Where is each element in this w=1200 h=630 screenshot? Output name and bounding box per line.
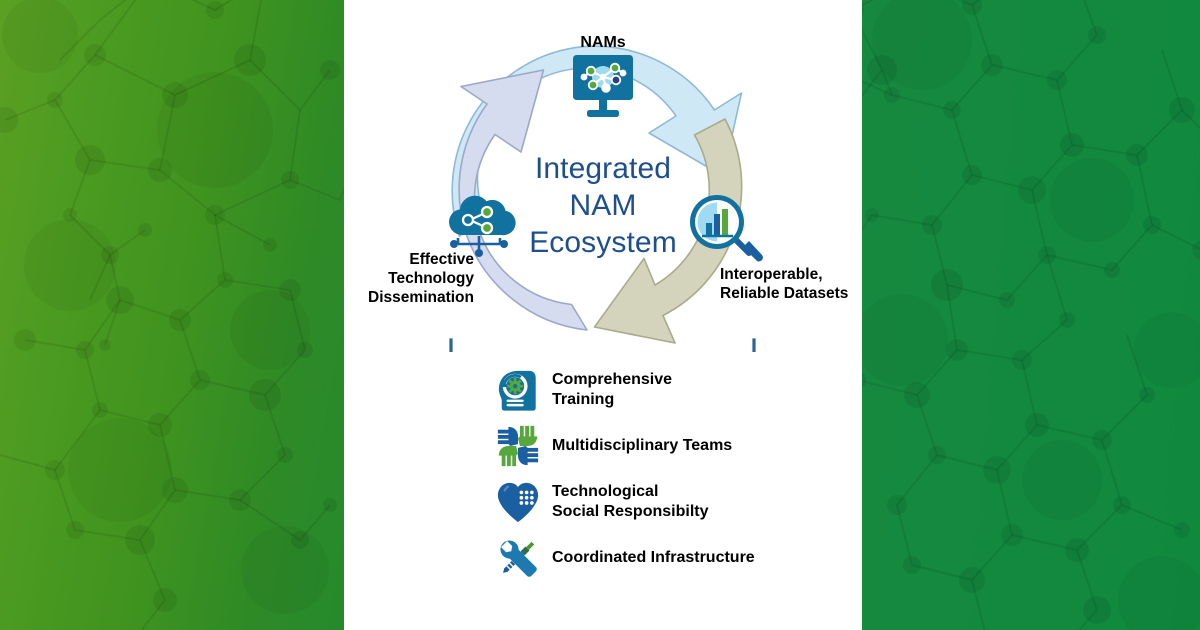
list-item-label: Multidisciplinary Teams	[552, 436, 732, 456]
list-item-label-line-2: Social Responsibilty	[552, 502, 708, 522]
molecule-pattern-left	[0, 0, 344, 630]
bracket	[451, 340, 754, 352]
label-nams: NAMs	[344, 33, 862, 52]
list-item-label-line-1: Comprehensive	[552, 370, 672, 390]
label-right-line-2: Reliable Datasets	[720, 284, 910, 303]
wrench-screwdriver-icon	[490, 534, 546, 582]
center-content-panel: Integrated NAM Ecosystem NAMs Effective …	[344, 0, 862, 630]
head-gear-icon	[490, 366, 546, 414]
list-item: Multidisciplinary Teams	[344, 418, 862, 474]
list-item-label: Technological Social Responsibilty	[552, 482, 708, 522]
label-effective-technology-dissemination: Effective Technology Dissemination	[334, 250, 474, 307]
list-item-label-line-1: Technological	[552, 482, 708, 502]
center-title-line-3: Ecosystem	[493, 224, 713, 261]
heart-grid-icon	[490, 478, 546, 526]
molecule-pattern-right	[862, 0, 1200, 630]
label-right-line-1: Interoperable,	[720, 265, 910, 284]
center-title: Integrated NAM Ecosystem	[493, 150, 713, 261]
list-item: Coordinated Infrastructure	[344, 530, 862, 586]
enabler-list: Comprehensive Training	[344, 362, 862, 586]
list-item: Comprehensive Training	[344, 362, 862, 418]
label-left-line-1: Effective	[334, 250, 474, 269]
left-green-panel	[0, 0, 344, 630]
four-hands-icon	[490, 422, 546, 470]
center-title-line-1: Integrated	[493, 150, 713, 187]
cycle-diagram: Integrated NAM Ecosystem NAMs Effective …	[344, 0, 862, 350]
right-green-panel	[862, 0, 1200, 630]
label-interoperable-reliable-datasets: Interoperable, Reliable Datasets	[720, 265, 910, 303]
monitor-network-icon	[560, 55, 646, 121]
label-left-line-2: Technology	[334, 269, 474, 288]
list-item: Technological Social Responsibilty	[344, 474, 862, 530]
list-item-label-line-1: Coordinated Infrastructure	[552, 548, 755, 568]
label-left-line-3: Dissemination	[334, 288, 474, 307]
center-title-line-2: NAM	[493, 187, 713, 224]
infographic-canvas: Integrated NAM Ecosystem NAMs Effective …	[0, 0, 1200, 630]
list-item-label: Coordinated Infrastructure	[552, 548, 755, 568]
list-item-label-line-2: Training	[552, 390, 672, 410]
list-item-label: Comprehensive Training	[552, 370, 672, 410]
list-item-label-line-1: Multidisciplinary Teams	[552, 436, 732, 456]
